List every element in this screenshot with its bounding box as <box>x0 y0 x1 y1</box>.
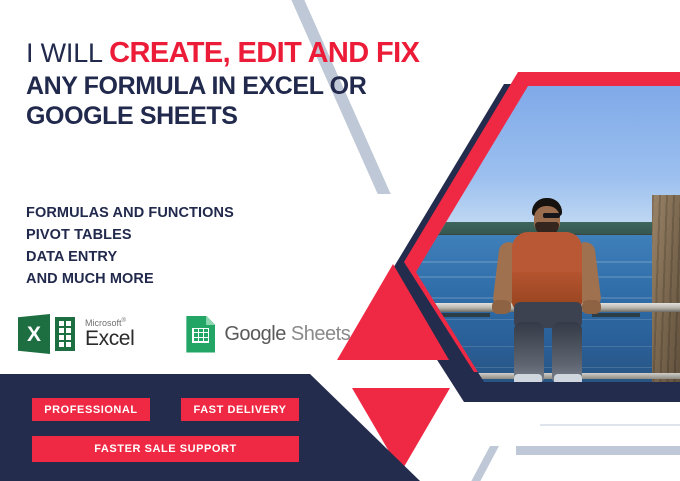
service-item: AND MUCH MORE <box>26 268 234 290</box>
google-brand-label: Google <box>224 323 286 345</box>
badge-group: PROFESSIONAL FAST DELIVERY FASTER SALE S… <box>0 374 420 481</box>
service-list: FORMULAS AND FUNCTIONS PIVOT TABLES DATA… <box>26 202 234 290</box>
triangle-up-icon <box>337 264 449 360</box>
badge-professional[interactable]: PROFESSIONAL <box>32 398 150 421</box>
chevron-horizontal-line <box>516 446 680 455</box>
service-item: PIVOT TABLES <box>26 224 234 246</box>
headline-line-3: GOOGLE SHEETS <box>26 101 446 131</box>
badge-faster-sale-support[interactable]: FASTER SALE SUPPORT <box>32 436 299 462</box>
figure-right-hand <box>582 300 601 314</box>
microsoft-excel-logo: X Microsoft® Excel <box>18 314 134 354</box>
google-sheets-doc-icon <box>186 316 215 353</box>
chevron-top-line <box>540 424 680 426</box>
service-item: FORMULAS AND FUNCTIONS <box>26 202 234 224</box>
google-sheets-logo: Google Sheets <box>186 316 350 353</box>
sheets-table-icon <box>192 328 209 343</box>
excel-x-glyph: X <box>27 324 41 345</box>
excel-x-icon: X <box>18 314 50 354</box>
headline-line-1: I WILL CREATE, EDIT AND FIX <box>26 36 446 71</box>
badge-fast-delivery[interactable]: FAST DELIVERY <box>181 398 299 421</box>
excel-product-label: Excel <box>85 328 134 350</box>
figure-left-leg <box>514 322 544 382</box>
headline-block: I WILL CREATE, EDIT AND FIX ANY FORMULA … <box>26 36 446 131</box>
google-sheets-wordmark: Google Sheets <box>224 323 350 346</box>
excel-wordmark: Microsoft® Excel <box>85 318 134 351</box>
excel-grid-icon <box>55 317 75 351</box>
chevron-angled-line <box>466 446 499 481</box>
headline-line-2: ANY FORMULA IN EXCEL OR <box>26 71 446 101</box>
headline-prefix: I WILL <box>26 38 102 68</box>
headline-emphasis: CREATE, EDIT AND FIX <box>109 37 419 69</box>
service-item: DATA ENTRY <box>26 246 234 268</box>
figure-left-hand <box>492 300 511 314</box>
figure-sunglasses <box>543 213 560 218</box>
logo-row: X Microsoft® Excel Google Sheets <box>18 314 350 354</box>
doc-fold-corner <box>206 316 215 326</box>
photo-wooden-post <box>652 195 680 388</box>
figure-right-leg <box>552 322 582 382</box>
gig-thumbnail-canvas: I WILL CREATE, EDIT AND FIX ANY FORMULA … <box>0 0 680 481</box>
